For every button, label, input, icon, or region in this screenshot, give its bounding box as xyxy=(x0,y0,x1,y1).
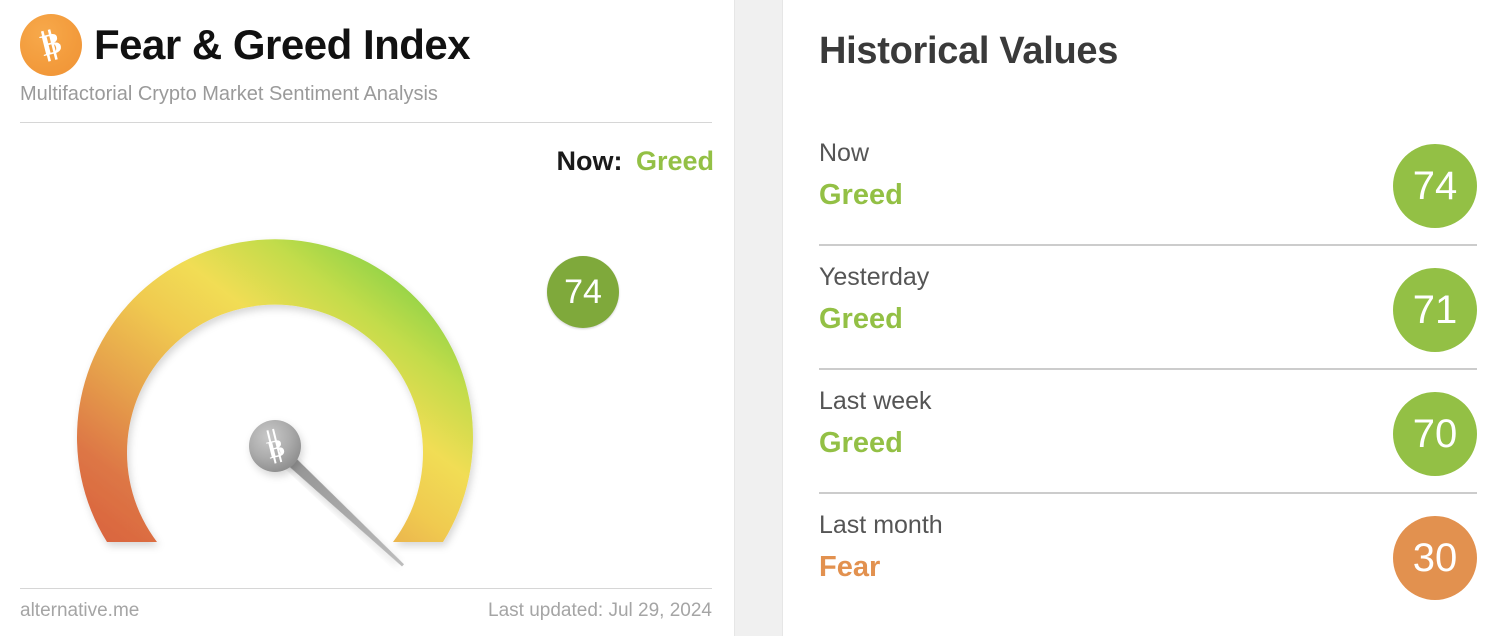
now-status: Now: Greed xyxy=(556,146,714,177)
panel-header: B Fear & Greed Index Multifactorial Cryp… xyxy=(20,14,712,106)
gauge-chart: B xyxy=(55,196,595,576)
history-classification: Fear xyxy=(819,551,880,584)
history-period-label: Last week xyxy=(819,387,932,416)
history-period-label: Last month xyxy=(819,511,943,540)
list-item[interactable]: Now Greed 74 xyxy=(819,122,1477,246)
gauge-panel: B Fear & Greed Index Multifactorial Cryp… xyxy=(0,0,734,636)
list-item[interactable]: Last week Greed 70 xyxy=(819,370,1477,494)
historical-values-title: Historical Values xyxy=(819,30,1118,73)
last-updated-text: Last updated: Jul 29, 2024 xyxy=(488,600,712,622)
gauge-arc xyxy=(77,239,473,542)
list-item[interactable]: Last month Fear 30 xyxy=(819,494,1477,618)
history-period-label: Yesterday xyxy=(819,263,929,292)
panel-footer: alternative.me Last updated: Jul 29, 202… xyxy=(20,600,712,622)
history-period-label: Now xyxy=(819,139,869,168)
header-divider xyxy=(20,122,712,123)
historical-values-panel: Historical Values Now Greed 74 Yesterday… xyxy=(783,0,1492,636)
history-score-badge: 74 xyxy=(1393,144,1477,228)
list-item[interactable]: Yesterday Greed 71 xyxy=(819,246,1477,370)
source-link[interactable]: alternative.me xyxy=(20,600,139,622)
history-score-badge: 30 xyxy=(1393,516,1477,600)
historical-values-list: Now Greed 74 Yesterday Greed 71 Last wee… xyxy=(819,122,1477,618)
history-classification: Greed xyxy=(819,427,903,460)
gauge-value-badge: 74 xyxy=(547,256,619,328)
history-classification: Greed xyxy=(819,303,903,336)
gauge-container: B 74 xyxy=(0,196,734,576)
history-score-badge: 70 xyxy=(1393,392,1477,476)
now-status-value: Greed xyxy=(636,146,714,176)
fear-greed-widget: B Fear & Greed Index Multifactorial Cryp… xyxy=(0,0,1492,636)
page-subtitle: Multifactorial Crypto Market Sentiment A… xyxy=(20,83,712,106)
page-title: Fear & Greed Index xyxy=(94,23,470,67)
bitcoin-icon: B xyxy=(20,14,82,76)
footer-divider xyxy=(20,588,712,589)
history-classification: Greed xyxy=(819,179,903,212)
history-score-badge: 71 xyxy=(1393,268,1477,352)
title-row: B Fear & Greed Index xyxy=(20,14,712,76)
panel-divider xyxy=(734,0,783,636)
now-status-label: Now: xyxy=(556,146,622,176)
gauge-hub: B xyxy=(249,420,301,472)
